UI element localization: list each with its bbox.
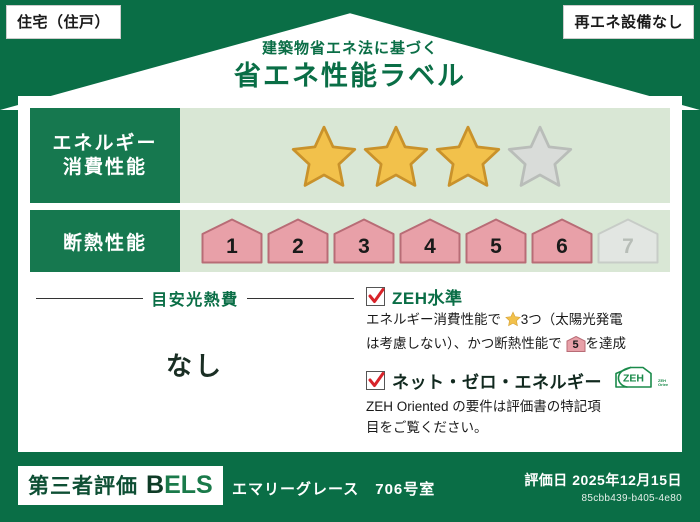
insulation-level-badge: 7: [597, 218, 659, 264]
zeh-oriented-logo-icon: ZEH ZEH Oriented: [612, 365, 668, 396]
evaluation-date-value: 2025年12月15日: [572, 472, 682, 488]
star-icon-empty: [507, 123, 573, 189]
header-subtitle: 建築物省エネ法に基づく: [0, 40, 700, 58]
insulation-level-badge: 4: [399, 218, 461, 264]
inline-house-level: 5: [566, 337, 586, 354]
zeh-standard-heading: ZEH水準: [366, 284, 670, 309]
bels-logo-b: B: [146, 471, 164, 499]
insulation-level-badge: 1: [201, 218, 263, 264]
insulation-level-number: 2: [292, 235, 304, 264]
inline-star-icon: [505, 311, 521, 334]
utility-cost-heading: 目安光熱費: [151, 286, 239, 310]
zeh-item-standard: ZEH水準 エネルギー消費性能で 3つ（太陽光発電 は考慮しない）、かつ断熱性能…: [366, 284, 670, 359]
energy-tag-line2: 消費性能: [63, 156, 147, 180]
energy-stars-group: [180, 123, 670, 189]
insulation-performance-row: 断熱性能 1234567: [30, 210, 670, 272]
zeh-desc-part2: は考慮しない）、かつ断熱性能で: [366, 336, 562, 351]
bels-badge: 第三者評価 BELS: [18, 466, 223, 505]
check-icon: [368, 372, 385, 390]
evaluation-date-block: 評価日 2025年12月15日 85cbb439-b405-4e80: [524, 470, 682, 504]
energy-performance-row: エネルギー 消費性能: [30, 108, 670, 203]
star-icon-filled: [291, 123, 357, 189]
energy-tag-line1: エネルギー: [52, 132, 157, 156]
insulation-level-number: 4: [424, 235, 436, 264]
svg-text:ZEH: ZEH: [623, 372, 644, 384]
rule-right: [247, 298, 354, 299]
badge-renewable-equipment: 再エネ設備なし: [563, 5, 694, 39]
insulation-level-badge: 6: [531, 218, 593, 264]
energy-performance-label: 建築物省エネ法に基づく 省エネ性能ラベル 住宅（住戸） 再エネ設備なし エネルギ…: [0, 0, 700, 522]
zeh-desc-star-text: 3つ（太陽光発電: [521, 312, 623, 327]
inline-house-badge-icon: 5: [566, 336, 586, 359]
insulation-level-badge: 2: [267, 218, 329, 264]
footer-bar: 第三者評価 BELS エマリーグレース 706号室 評価日 2025年12月15…: [0, 452, 700, 522]
insulation-levels-group: 1234567: [180, 218, 670, 264]
utility-cost-block: 目安光熱費 なし: [30, 282, 360, 442]
zeh-block: ZEH水準 エネルギー消費性能で 3つ（太陽光発電 は考慮しない）、かつ断熱性能…: [360, 282, 670, 442]
insulation-level-number: 5: [490, 235, 502, 264]
zeh-netzero-heading: ネット・ゼロ・エネルギー ZEH ZEH Oriented: [366, 365, 670, 396]
insulation-level-number: 3: [358, 235, 370, 264]
zeh-netzero-desc-line2: 目をご覧ください。: [366, 420, 488, 435]
insulation-level-badge: 3: [333, 218, 395, 264]
zeh-standard-description: エネルギー消費性能で 3つ（太陽光発電 は考慮しない）、かつ断熱性能で 5: [366, 310, 670, 359]
header-title: 省エネ性能ラベル: [0, 60, 700, 94]
insulation-tag-label: 断熱性能: [63, 228, 147, 255]
utility-cost-value: なし: [30, 346, 360, 383]
zeh-netzero-desc-line1: ZEH Oriented の要件は評価書の特記項: [366, 399, 601, 414]
zeh-standard-title: ZEH水準: [392, 284, 463, 309]
building-name: エマリーグレース 706号室: [232, 478, 435, 499]
insulation-level-badge: 5: [465, 218, 527, 264]
bels-jp-label: 第三者評価: [28, 470, 138, 500]
main-card: エネルギー 消費性能 断熱性能 1234567 目安光熱費 なし: [18, 96, 682, 452]
title-block: 建築物省エネ法に基づく 省エネ性能ラベル: [0, 40, 700, 94]
zeh-netzero-description: ZEH Oriented の要件は評価書の特記項 目をご覧ください。: [366, 397, 670, 439]
zeh-desc-part3: を達成: [586, 336, 627, 351]
evaluation-date: 評価日 2025年12月15日: [524, 470, 682, 490]
zeh-item-net-zero: ネット・ゼロ・エネルギー ZEH ZEH Oriented: [366, 365, 670, 439]
insulation-level-number: 1: [226, 235, 238, 264]
insulation-level-number: 6: [556, 235, 568, 264]
lower-section: 目安光熱費 なし ZEH水準 エネ: [30, 282, 670, 442]
check-icon: [368, 288, 385, 306]
svg-text:Oriented: Oriented: [658, 382, 668, 387]
bels-logo-els: ELS: [164, 471, 213, 499]
utility-cost-heading-row: 目安光熱費: [30, 286, 360, 310]
rule-left: [36, 298, 143, 299]
insulation-level-number: 7: [622, 235, 634, 264]
insulation-performance-tag: 断熱性能: [30, 210, 180, 272]
zeh-netzero-title: ネット・ゼロ・エネルギー: [392, 368, 602, 393]
star-icon-filled: [363, 123, 429, 189]
bels-logo-text: BELS: [146, 471, 213, 500]
zeh-standard-checkbox[interactable]: [366, 287, 385, 306]
badge-dwelling-type: 住宅（住戸）: [6, 5, 121, 39]
zeh-desc-part1: エネルギー消費性能で: [366, 312, 501, 327]
evaluation-id: 85cbb439-b405-4e80: [524, 493, 682, 504]
evaluation-date-label: 評価日: [524, 472, 568, 488]
energy-performance-tag: エネルギー 消費性能: [30, 108, 180, 203]
star-icon-filled: [435, 123, 501, 189]
zeh-netzero-checkbox[interactable]: [366, 371, 385, 390]
